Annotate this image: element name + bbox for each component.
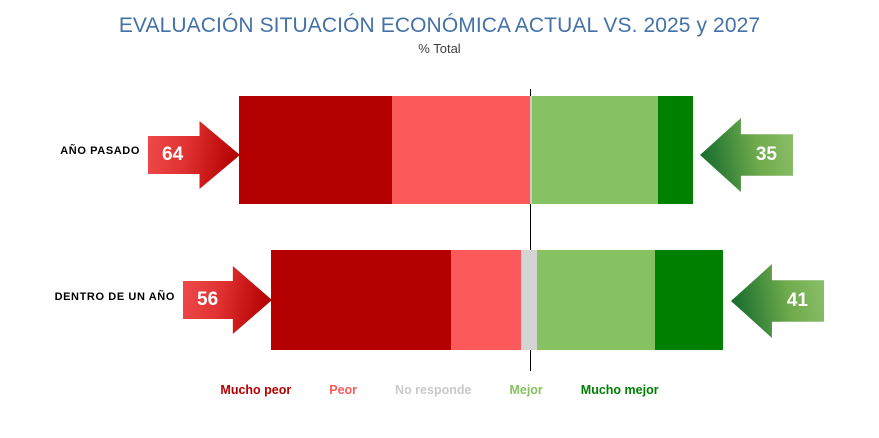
row-label-ano-pasado: AÑO PASADO xyxy=(0,145,140,157)
legend-item-mucho-mejor: Mucho mejor xyxy=(581,383,659,397)
segment-peor xyxy=(451,250,521,350)
positive-total-value: 41 xyxy=(787,290,808,312)
segment-mucho-mejor xyxy=(655,250,723,350)
legend-item-no-responde: No responde xyxy=(395,383,471,397)
legend-item-mejor: Mejor xyxy=(509,383,542,397)
positive-total-value: 35 xyxy=(756,144,777,166)
segment-mucho-peor xyxy=(239,96,392,204)
segment-mejor xyxy=(537,250,655,350)
chart-legend: Mucho peor Peor No responde Mejor Mucho … xyxy=(0,383,879,397)
negative-total-arrow-dentro-de-un-ano: 56 xyxy=(183,266,272,334)
stacked-bar-dentro-de-un-ano xyxy=(271,250,723,350)
diverging-bar-chart: EVALUACIÓN SITUACIÓN ECONÓMICA ACTUAL VS… xyxy=(0,0,879,438)
segment-peor xyxy=(392,96,530,204)
segment-mucho-mejor xyxy=(658,96,693,204)
segment-no-responde xyxy=(521,250,537,350)
chart-title: EVALUACIÓN SITUACIÓN ECONÓMICA ACTUAL VS… xyxy=(0,14,879,38)
segment-mejor xyxy=(532,96,658,204)
negative-total-arrow-ano-pasado: 64 xyxy=(148,121,240,189)
legend-item-mucho-peor: Mucho peor xyxy=(220,383,291,397)
positive-total-arrow-ano-pasado: 35 xyxy=(700,118,793,192)
chart-subtitle: % Total xyxy=(0,41,879,56)
row-label-dentro-de-un-ano: DENTRO DE UN AÑO xyxy=(0,291,175,303)
negative-total-value: 64 xyxy=(162,144,183,166)
legend-item-peor: Peor xyxy=(329,383,357,397)
positive-total-arrow-dentro-de-un-ano: 41 xyxy=(731,264,824,338)
segment-mucho-peor xyxy=(271,250,451,350)
negative-total-value: 56 xyxy=(197,289,218,311)
stacked-bar-ano-pasado xyxy=(239,96,693,204)
